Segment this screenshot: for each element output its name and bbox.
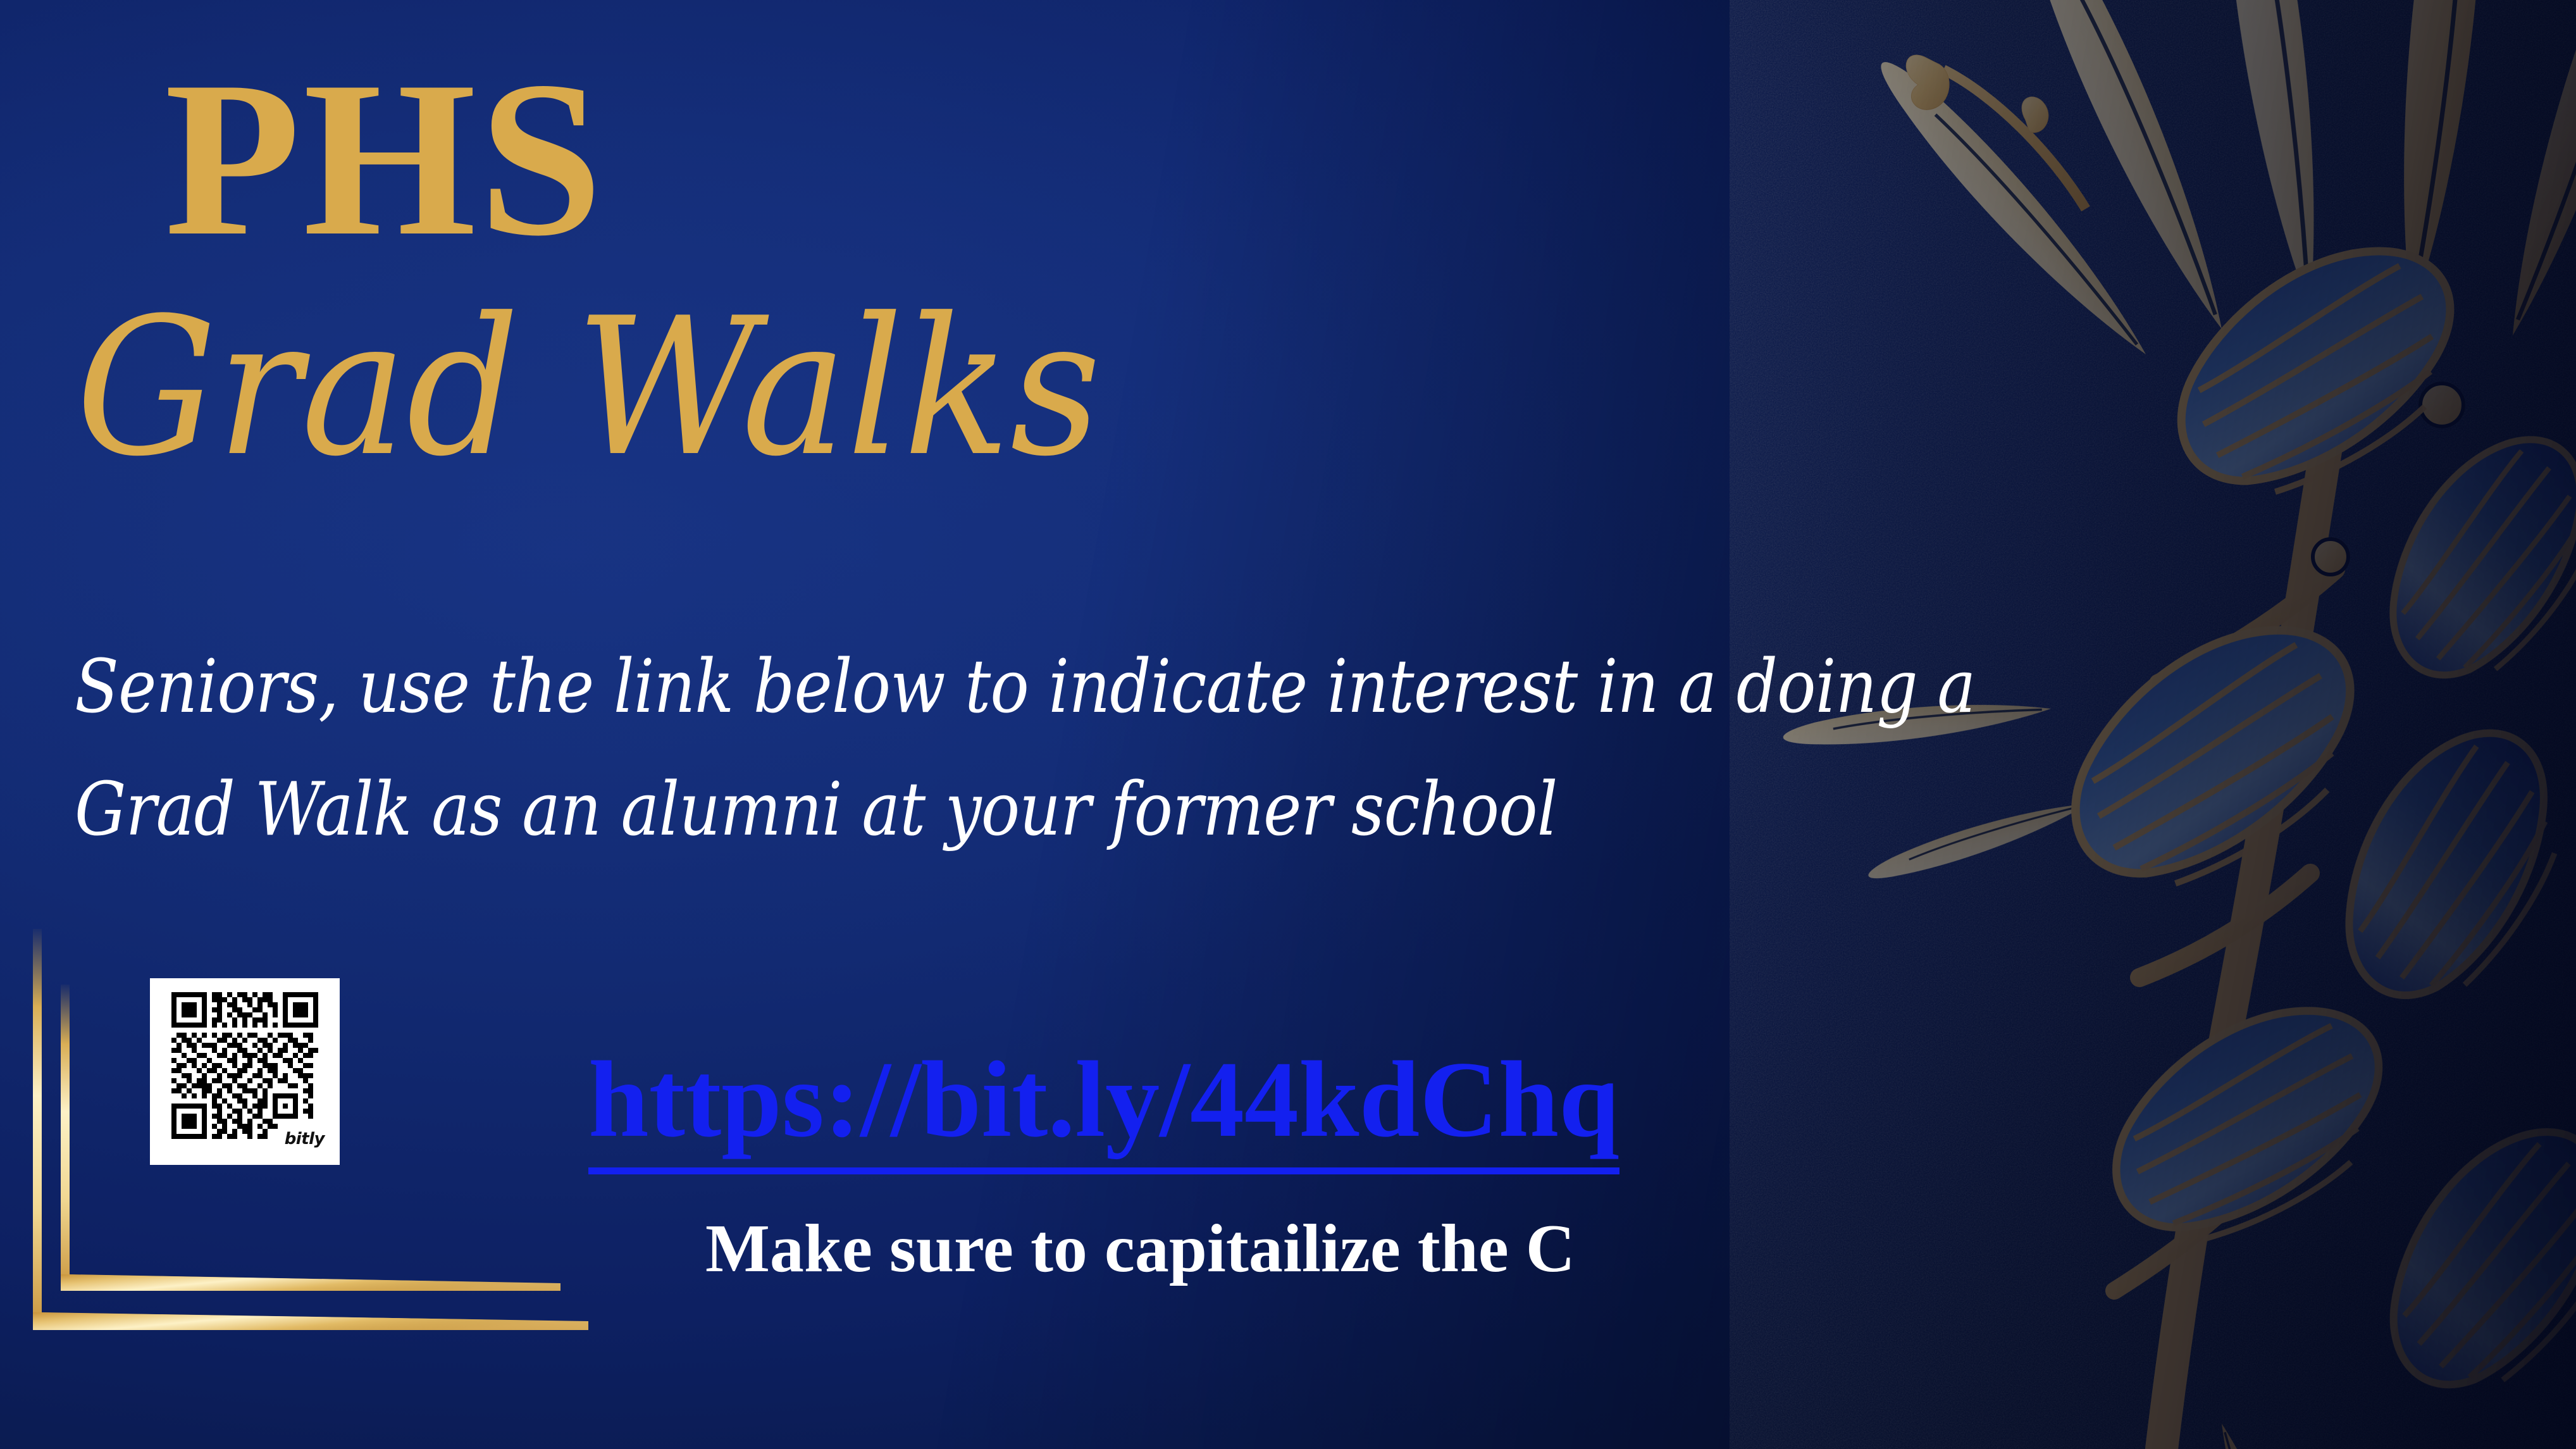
bitly-brand-label: bitly <box>285 1129 325 1148</box>
instruction-line-1: Seniors, use the link below to indicate … <box>75 644 1975 730</box>
qr-code-card[interactable]: bitly <box>150 978 340 1165</box>
signup-link[interactable]: https://bit.ly/44kdChq <box>588 1038 1619 1174</box>
page-title-secondary: Grad Walks <box>76 297 1101 478</box>
page-title-primary: PHS <box>164 57 605 262</box>
link-capitalization-note: Make sure to capitailize the C <box>705 1210 1575 1288</box>
qr-code-matrix <box>163 992 327 1139</box>
instruction-line-2: Grad Walk as an alumni at your former sc… <box>75 767 1557 852</box>
grad-walks-flyer: PHS Grad Walks Seniors, use the link bel… <box>0 0 2576 1449</box>
